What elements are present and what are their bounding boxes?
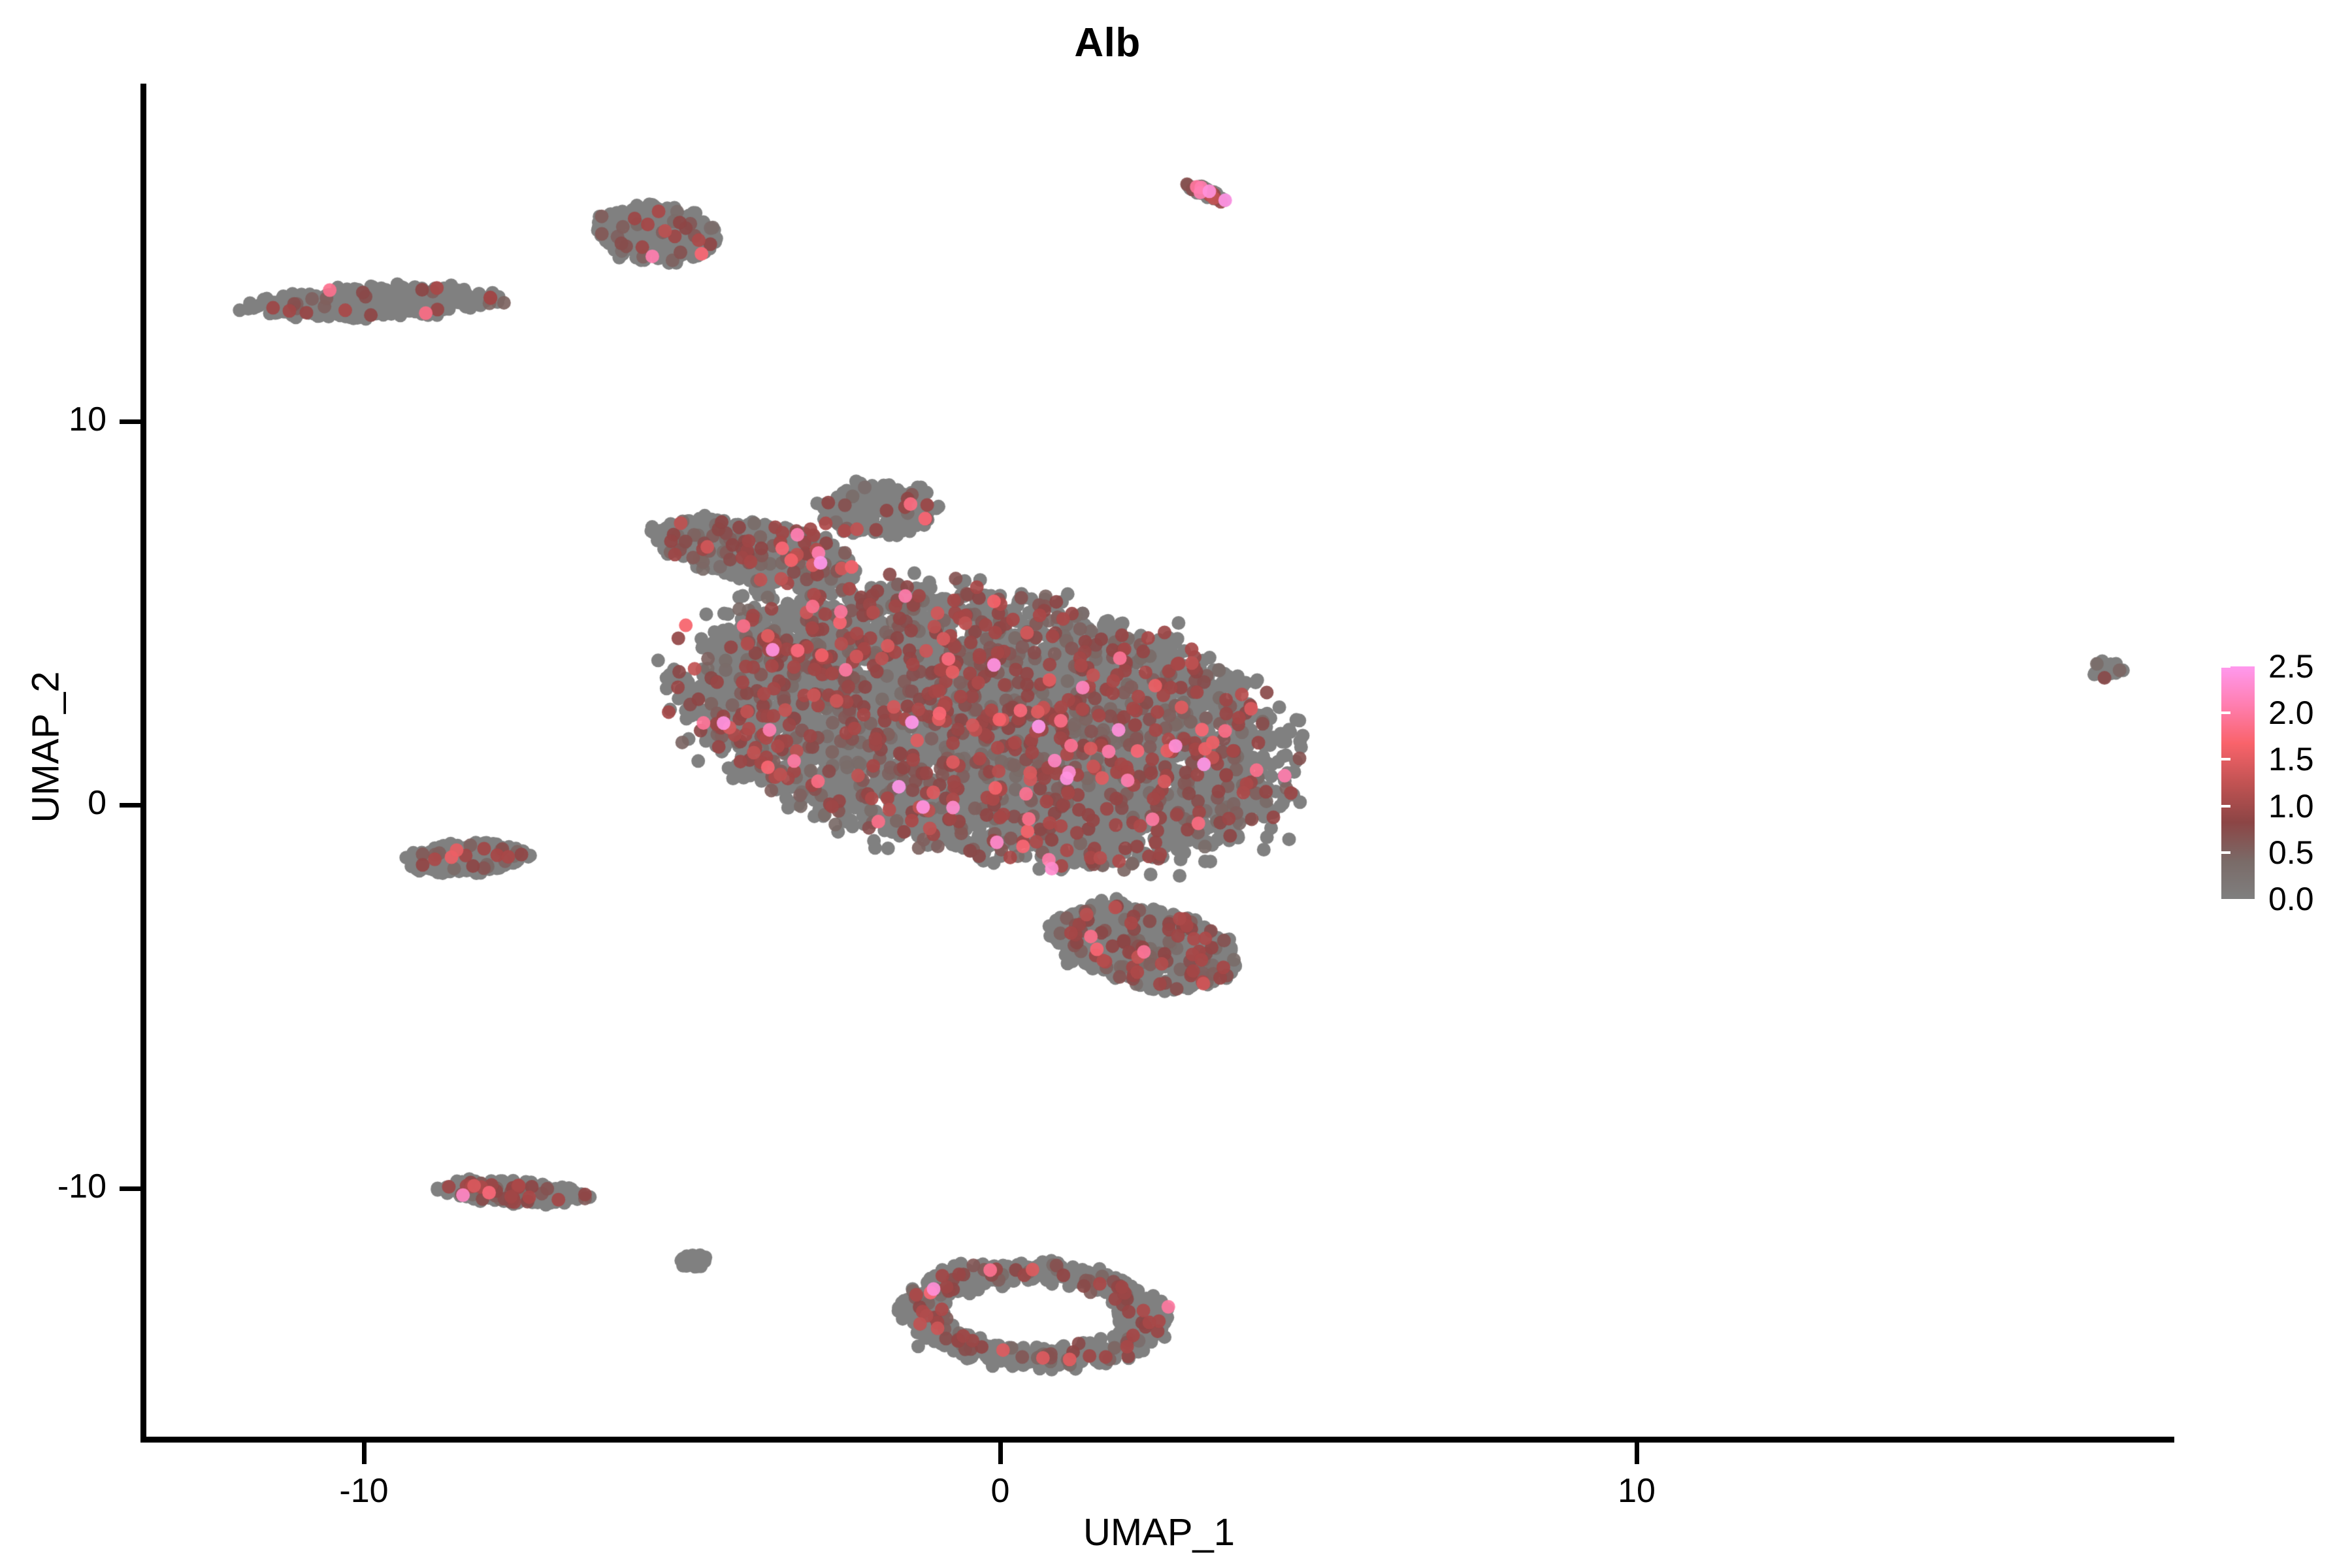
scatter-canvas: [144, 85, 2174, 1439]
x-tick-mark: [362, 1442, 367, 1464]
legend-tick: [2336, 758, 2345, 760]
y-axis-title: UMAP_2: [24, 388, 68, 1107]
y-axis-line: [140, 84, 146, 1443]
legend-tick: [2336, 805, 2345, 808]
x-tick-mark: [998, 1442, 1003, 1464]
legend-tick: [2336, 665, 2345, 668]
color-legend: 2.52.01.51.00.50.0: [2221, 666, 2345, 908]
y-tick-label: 0: [88, 783, 106, 823]
legend-label: 0.0: [2268, 880, 2314, 918]
y-tick-mark: [120, 803, 142, 808]
legend-label: 2.0: [2268, 694, 2314, 732]
legend-colorbar: [2221, 666, 2255, 899]
x-tick-label: -10: [339, 1471, 388, 1511]
y-tick-label: -10: [57, 1167, 106, 1206]
umap-feature-plot: Alb 100-10 -10010 UMAP_1 UMAP_2 2.52.01.…: [0, 0, 2352, 1568]
legend-label: 1.0: [2268, 787, 2314, 825]
y-tick-label: 10: [69, 400, 106, 439]
page-title: Alb: [0, 20, 2215, 66]
legend-label: 2.5: [2268, 647, 2314, 685]
legend-tick: [2221, 711, 2230, 714]
y-tick-mark: [120, 419, 142, 424]
legend-label: 0.5: [2268, 834, 2314, 872]
x-axis-title: UMAP_1: [144, 1511, 2174, 1554]
legend-tick: [2221, 851, 2230, 854]
legend-tick: [2336, 711, 2345, 714]
plot-panel: [144, 85, 2174, 1439]
legend-tick: [2221, 665, 2230, 668]
legend-label: 1.5: [2268, 740, 2314, 778]
legend-tick: [2336, 851, 2345, 854]
x-tick-mark: [1635, 1442, 1639, 1464]
x-axis-line: [140, 1437, 2174, 1443]
x-tick-label: 0: [991, 1471, 1010, 1511]
legend-tick: [2221, 805, 2230, 808]
x-tick-label: 10: [1618, 1471, 1656, 1511]
y-tick-mark: [120, 1186, 142, 1191]
legend-tick: [2221, 758, 2230, 760]
